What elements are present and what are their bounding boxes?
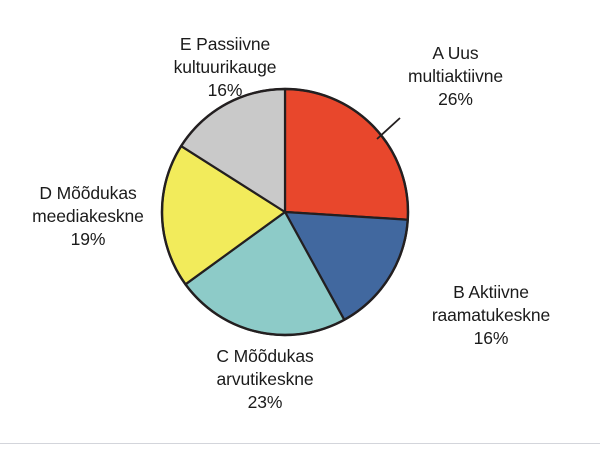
- pie-label-b: B Aktiivne raamatukeskne 16%: [398, 281, 584, 349]
- pie-label-e-line2: kultuurikauge: [120, 56, 330, 79]
- pie-label-b-line2: raamatukeskne: [398, 304, 584, 327]
- pie-label-a-line1: A Uus: [368, 42, 543, 65]
- pie-label-a: A Uus multiaktiivne 26%: [368, 42, 543, 110]
- pie-label-c: C Mõõdukas arvutikeskne 23%: [170, 345, 360, 413]
- pie-label-c-value: 23%: [170, 391, 360, 414]
- pie-label-b-value: 16%: [398, 327, 584, 350]
- pie-label-a-value: 26%: [368, 88, 543, 111]
- pie-slices: [162, 89, 408, 335]
- pie-label-d-line1: D Mõõdukas: [4, 182, 172, 205]
- pie-label-c-line1: C Mõõdukas: [170, 345, 360, 368]
- pie-label-c-line2: arvutikeskne: [170, 368, 360, 391]
- pie-label-d-line2: meediakeskne: [4, 205, 172, 228]
- screenshot-canvas: A Uus multiaktiivne 26% B Aktiivne raama…: [0, 0, 600, 451]
- pie-label-e: E Passiivne kultuurikauge 16%: [120, 33, 330, 101]
- pie-label-d-value: 19%: [4, 228, 172, 251]
- footer-strip: [0, 444, 600, 451]
- pie-label-a-line2: multiaktiivne: [368, 65, 543, 88]
- pie-label-d: D Mõõdukas meediakeskne 19%: [4, 182, 172, 250]
- pie-label-e-value: 16%: [120, 79, 330, 102]
- leader-line-a: [377, 118, 400, 139]
- pie-label-b-line1: B Aktiivne: [398, 281, 584, 304]
- pie-chart-figure: A Uus multiaktiivne 26% B Aktiivne raama…: [0, 0, 600, 443]
- pie-label-e-line1: E Passiivne: [120, 33, 330, 56]
